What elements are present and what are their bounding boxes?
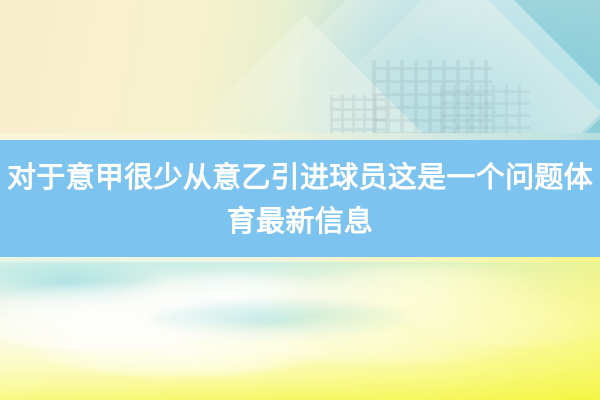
banner-image: 对于意甲很少从意乙引进球员这是一个问题体育最新信息 [0, 0, 600, 400]
headline-text: 对于意甲很少从意乙引进球员这是一个问题体育最新信息 [0, 155, 600, 243]
banner-bottom-highlight [0, 257, 600, 262]
teal-haze [150, 299, 410, 339]
top-background [0, 0, 600, 141]
bottom-background [0, 257, 600, 400]
cloud-shape [300, 263, 550, 323]
cloud-shape [120, 271, 340, 323]
teal-haze [0, 261, 160, 305]
cloud-shape [30, 319, 330, 377]
cloud-shape [410, 291, 600, 347]
headline-banner: 对于意甲很少从意乙引进球员这是一个问题体育最新信息 [0, 140, 600, 258]
cloud-shape [250, 313, 530, 365]
cloud-shape [0, 283, 230, 353]
